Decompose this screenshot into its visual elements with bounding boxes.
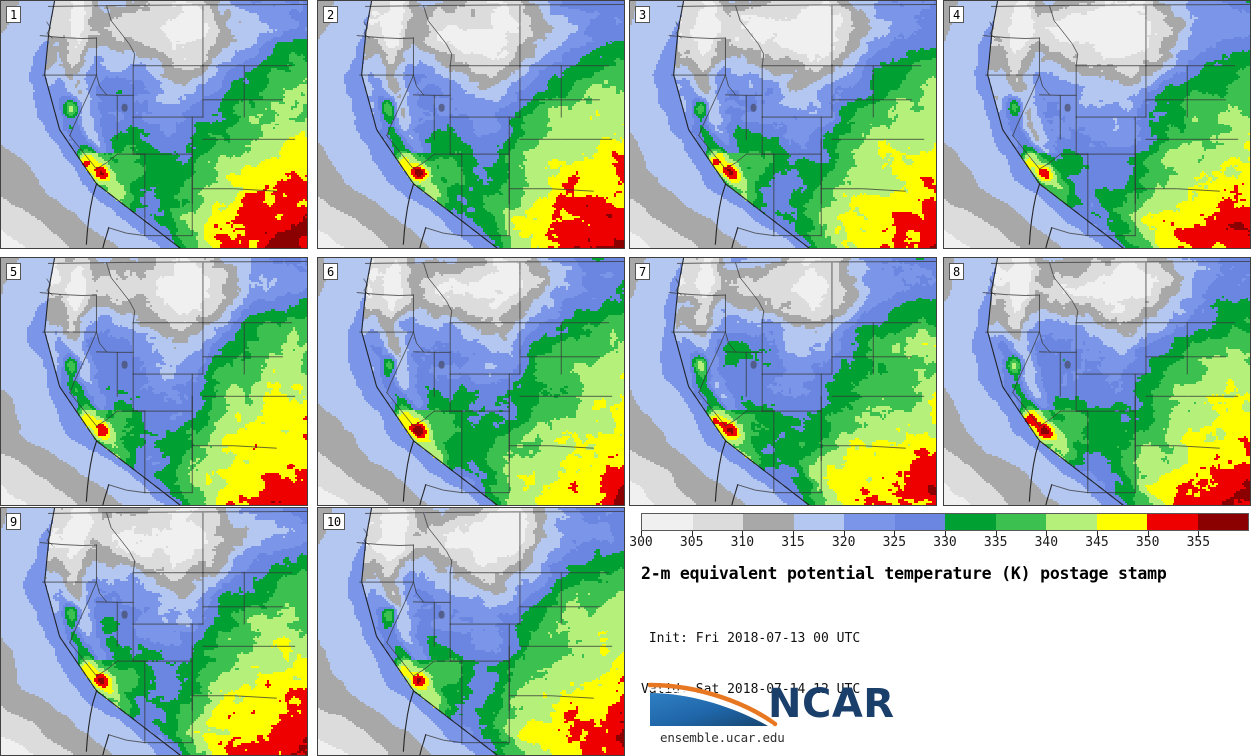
panel-member-number: 1 — [6, 6, 21, 23]
thetae-contour-map — [318, 1, 624, 248]
colorbar-tick-label: 335 — [984, 535, 1007, 551]
init-time: Init: Fri 2018-07-13 00 UTC — [641, 630, 860, 647]
colorbar-tick-label: 345 — [1085, 535, 1108, 551]
panel-member-number: 10 — [323, 513, 345, 530]
panel-member-number: 4 — [949, 6, 964, 23]
colorbar-tick-label: 325 — [883, 535, 906, 551]
colorbar-tick-label: 340 — [1035, 535, 1058, 551]
colorbar-tick-label: 310 — [731, 535, 754, 551]
thetae-contour-map — [318, 258, 624, 505]
colorbar-swatch — [794, 514, 845, 530]
ensemble-member-panel[interactable]: 10 — [317, 507, 625, 756]
colorbar-swatch — [743, 514, 794, 530]
thetae-contour-map — [1, 508, 307, 755]
colorbar-swatches — [641, 513, 1249, 531]
colorbar-tick-label: 300 — [629, 535, 652, 551]
colorbar-swatch — [844, 514, 895, 530]
colorbar-swatch — [642, 514, 693, 530]
colorbar-swatch — [1198, 514, 1249, 530]
ncar-swoosh-icon — [648, 680, 778, 728]
page-title: 2-m equivalent potential temperature (K)… — [641, 564, 1167, 583]
colorbar-tick-label: 330 — [933, 535, 956, 551]
colorbar-swatch — [996, 514, 1047, 530]
panel-member-number: 5 — [6, 263, 21, 280]
ensemble-member-panel[interactable]: 9 — [0, 507, 308, 756]
ensemble-member-panel[interactable]: 3 — [629, 0, 937, 249]
thetae-contour-map — [944, 1, 1250, 248]
ensemble-member-panel[interactable]: 8 — [943, 257, 1251, 506]
colorbar-tick-label: 355 — [1187, 535, 1210, 551]
ncar-logo[interactable]: NCAR ensemble.ucar.edu — [648, 680, 888, 742]
colorbar-swatch — [895, 514, 946, 530]
ncar-wordmark: NCAR — [768, 683, 895, 725]
colorbar: 300305310315320325330335340345350355 — [641, 513, 1249, 531]
colorbar-swatch — [945, 514, 996, 530]
ensemble-member-panel[interactable]: 7 — [629, 257, 937, 506]
colorbar-swatch — [1046, 514, 1097, 530]
figure-root: 12345678910 3003053103153203253303353403… — [0, 0, 1260, 746]
panel-member-number: 6 — [323, 263, 338, 280]
ensemble-member-panel[interactable]: 4 — [943, 0, 1251, 249]
colorbar-swatch — [1097, 514, 1148, 530]
panel-member-number: 7 — [635, 263, 650, 280]
panel-member-number: 3 — [635, 6, 650, 23]
ensemble-member-panel[interactable]: 6 — [317, 257, 625, 506]
legend-panel: 300305310315320325330335340345350355 2-m… — [628, 500, 1260, 746]
thetae-contour-map — [630, 258, 936, 505]
colorbar-swatch — [1147, 514, 1198, 530]
ensemble-member-panel[interactable]: 1 — [0, 0, 308, 249]
panel-member-number: 2 — [323, 6, 338, 23]
thetae-contour-map — [944, 258, 1250, 505]
colorbar-tick-label: 305 — [680, 535, 703, 551]
ensemble-member-panel[interactable]: 5 — [0, 257, 308, 506]
panel-member-number: 9 — [6, 513, 21, 530]
colorbar-tick-label: 315 — [781, 535, 804, 551]
colorbar-tick-label: 350 — [1136, 535, 1159, 551]
thetae-contour-map — [318, 508, 624, 755]
ncar-url-label: ensemble.ucar.edu — [660, 730, 785, 745]
thetae-contour-map — [1, 1, 307, 248]
colorbar-tick-label: 320 — [832, 535, 855, 551]
ensemble-member-panel[interactable]: 2 — [317, 0, 625, 249]
colorbar-tick-labels: 300305310315320325330335340345350355 — [641, 535, 1249, 551]
panel-member-number: 8 — [949, 263, 964, 280]
thetae-contour-map — [1, 258, 307, 505]
colorbar-swatch — [693, 514, 744, 530]
thetae-contour-map — [630, 1, 936, 248]
